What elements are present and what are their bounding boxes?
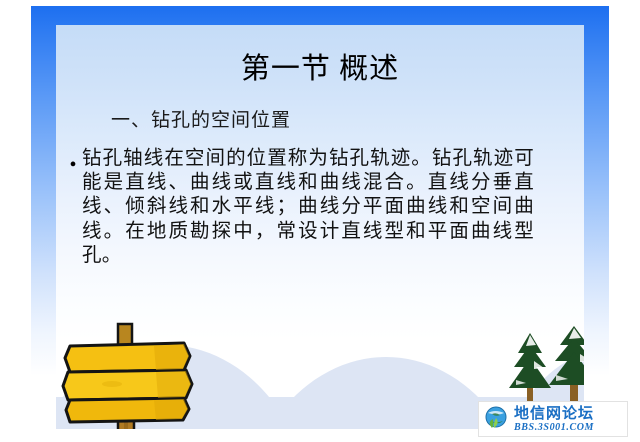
slide-subtitle: 一、钻孔的空间位置: [111, 109, 291, 133]
presentation-slide: 第一节 概述 一、钻孔的空间位置 • 钻孔轴线在空间的位置称为钻孔轨迹。钻孔轨迹…: [0, 0, 640, 442]
watermark-text: 地信网论坛 BBS.3S001.COM: [514, 406, 594, 433]
watermark-site-url: BBS.3S001.COM: [514, 423, 594, 433]
body-paragraph: 钻孔轴线在空间的位置称为钻孔轨迹。钻孔轨迹可能是直线、曲线或直线和曲线混合。直线…: [82, 147, 534, 268]
watermark-site-name: 地信网论坛: [514, 406, 594, 421]
bullet-point-icon: •: [64, 147, 82, 178]
slide-canvas: 第一节 概述 一、钻孔的空间位置 • 钻孔轴线在空间的位置称为钻孔轨迹。钻孔轨迹…: [56, 25, 584, 429]
slide-title: 第一节 概述: [56, 52, 584, 86]
wooden-signpost-icon: [56, 310, 214, 429]
forum-watermark: 地信网论坛 BBS.3S001.COM: [478, 401, 628, 437]
body-bullet-item: • 钻孔轴线在空间的位置称为钻孔轨迹。钻孔轨迹可能是直线、曲线或直线和曲线混合。…: [64, 147, 534, 268]
globe-leaf-icon: [482, 404, 512, 434]
